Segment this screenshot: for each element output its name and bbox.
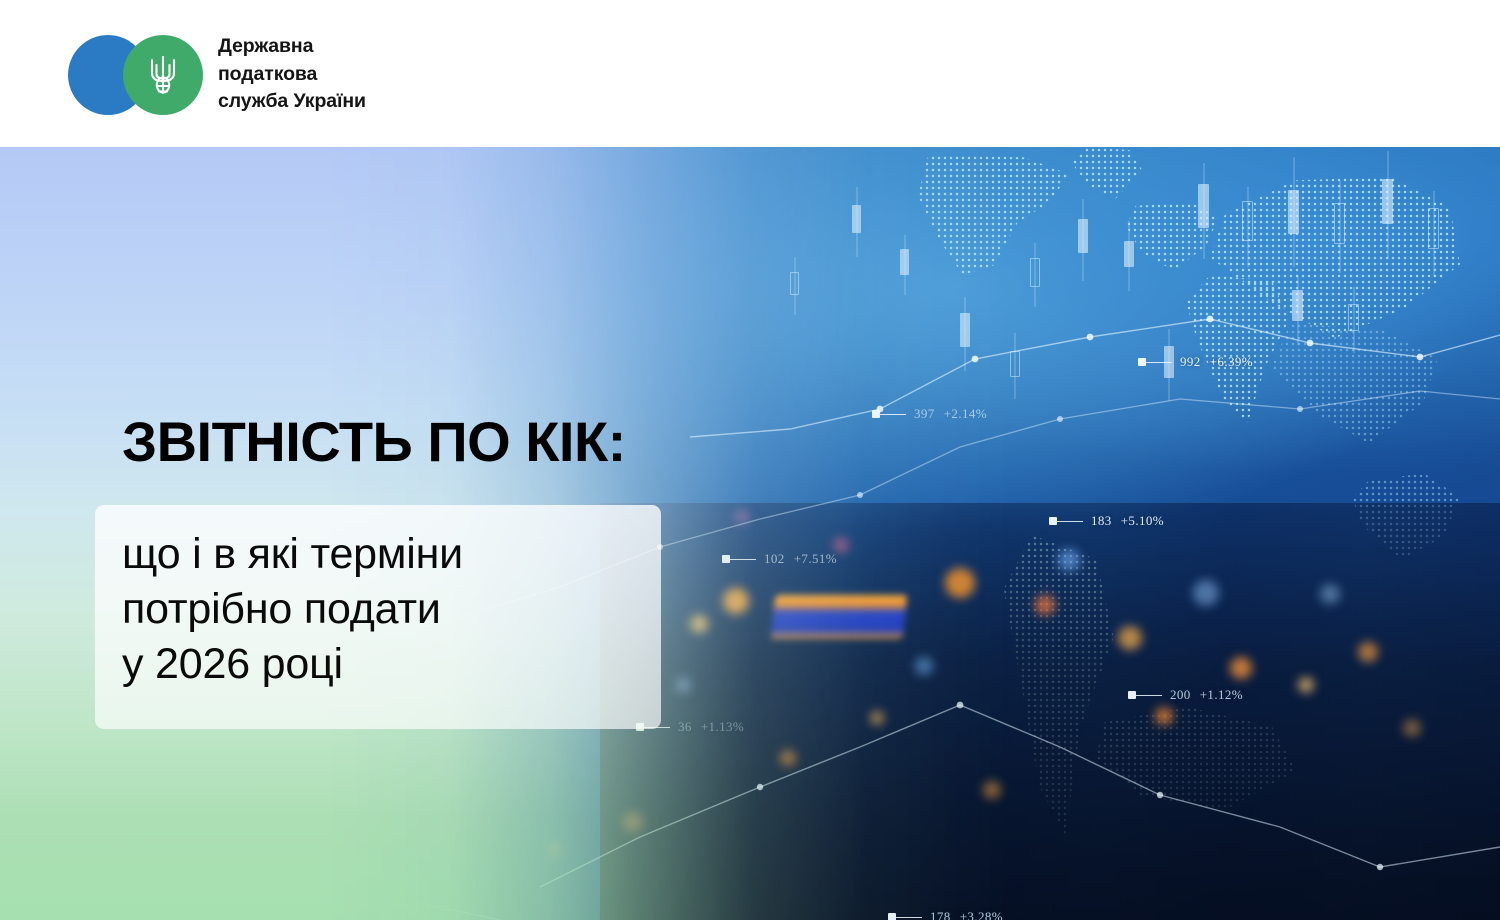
annotation-stem (1057, 521, 1083, 522)
annotation-stem (1136, 695, 1162, 696)
data-annotation: 992 +6.39% (1138, 354, 1253, 370)
annotation-marker (1138, 358, 1146, 366)
header-band: Державна податкова служба України (0, 0, 1500, 147)
annotation-change: +5.10% (1121, 513, 1164, 529)
annotation-value: 200 (1170, 687, 1191, 703)
annotation-marker (1128, 691, 1136, 699)
annotation-stem (1146, 362, 1172, 363)
logo-marks (68, 35, 203, 115)
data-annotation: 183 +5.10% (1049, 513, 1164, 529)
poster-canvas: 992 +6.39% 397 +2.14% 183 +5.10% 102 +7.… (0, 0, 1500, 920)
organization-logo[interactable]: Державна податкова служба України (68, 33, 366, 116)
annotation-marker (1049, 517, 1057, 525)
annotation-value: 183 (1091, 513, 1112, 529)
annotation-value: 992 (1180, 354, 1201, 370)
annotation-change: +6.39% (1210, 354, 1253, 370)
data-annotation: 200 +1.12% (1128, 687, 1243, 703)
page-subtitle: що і в які терміни потрібно подати у 202… (122, 527, 463, 692)
organization-name: Державна податкова служба України (218, 33, 366, 116)
annotation-change: +1.12% (1200, 687, 1243, 703)
page-title: ЗВІТНІСТЬ ПО КІК: (122, 413, 626, 471)
ukraine-trident-emblem-icon (123, 35, 203, 115)
